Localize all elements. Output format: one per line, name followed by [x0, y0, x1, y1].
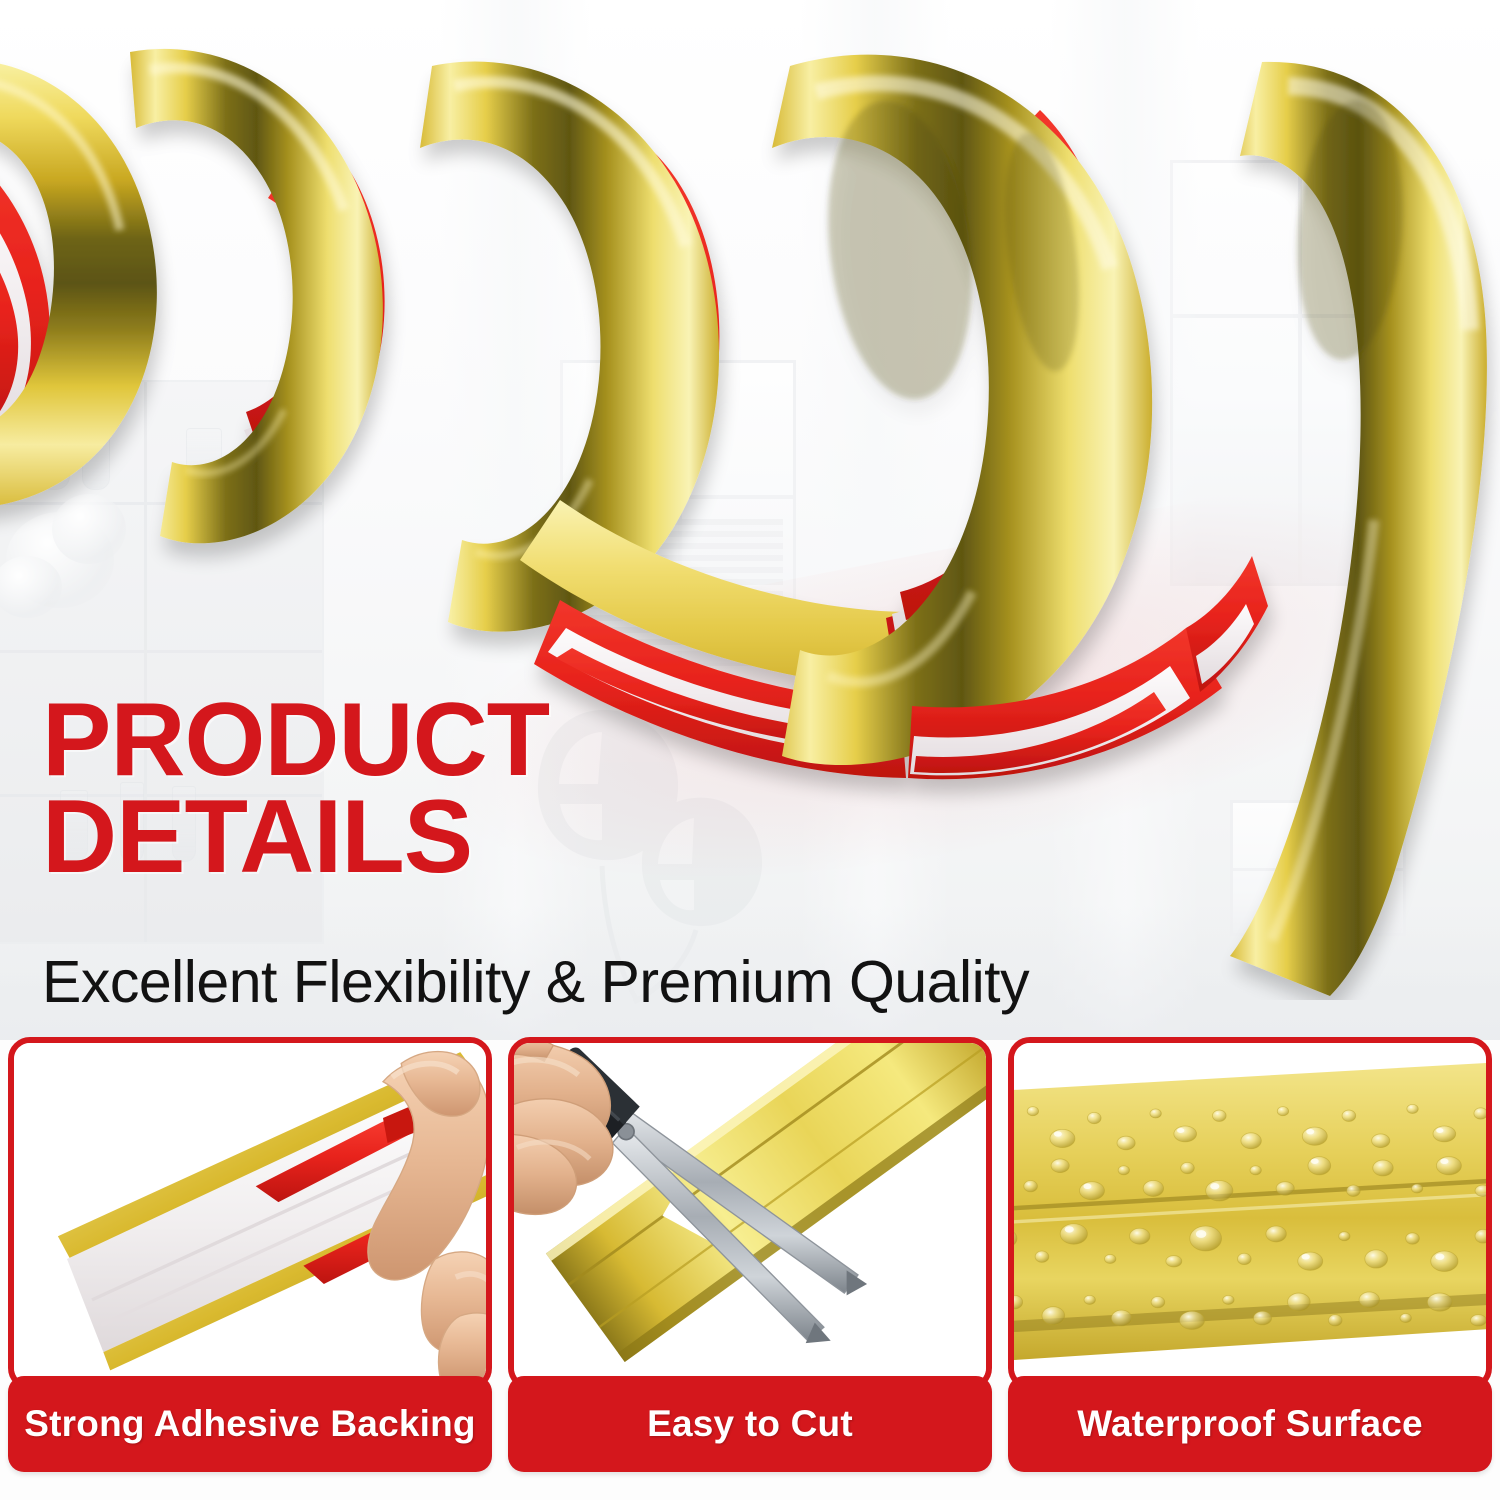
scissors-cutting-illustration	[514, 1043, 986, 1384]
feature-image-adhesive	[8, 1037, 492, 1390]
feature-image-easy-to-cut	[508, 1037, 992, 1390]
hand-peeling-liner-illustration	[14, 1043, 486, 1384]
coil-tail	[1186, 62, 1487, 996]
feature-caption-adhesive: Strong Adhesive Backing	[8, 1376, 492, 1472]
water-droplets-illustration	[1014, 1043, 1486, 1384]
page-title: PRODUCT DETAILS	[42, 692, 802, 885]
feature-card-easy-to-cut: Easy to Cut	[508, 1037, 992, 1472]
feature-image-waterproof	[1008, 1037, 1492, 1390]
page-subtitle: Excellent Flexibility & Premium Quality	[42, 948, 1202, 1016]
feature-card-adhesive: Strong Adhesive Backing	[8, 1037, 492, 1472]
feature-caption-waterproof-label: Waterproof Surface	[1077, 1403, 1423, 1445]
product-detail-infographic: PRODUCT DETAILS Excellent Flexibility & …	[0, 0, 1500, 1500]
feature-caption-easy-to-cut: Easy to Cut	[508, 1376, 992, 1472]
page-title-line1: PRODUCT	[42, 692, 802, 789]
coil-loop-1	[0, 59, 157, 508]
coil-loop-2	[130, 49, 385, 543]
feature-card-waterproof: Waterproof Surface	[1008, 1037, 1492, 1472]
page-title-line2: DETAILS	[42, 789, 802, 886]
feature-caption-easy-to-cut-label: Easy to Cut	[647, 1403, 853, 1445]
feature-panel-row: Strong Adhesive Backing	[0, 1037, 1500, 1472]
feature-caption-waterproof: Waterproof Surface	[1008, 1376, 1492, 1472]
coil-loop-4	[772, 55, 1152, 765]
feature-caption-adhesive-label: Strong Adhesive Backing	[24, 1403, 475, 1445]
